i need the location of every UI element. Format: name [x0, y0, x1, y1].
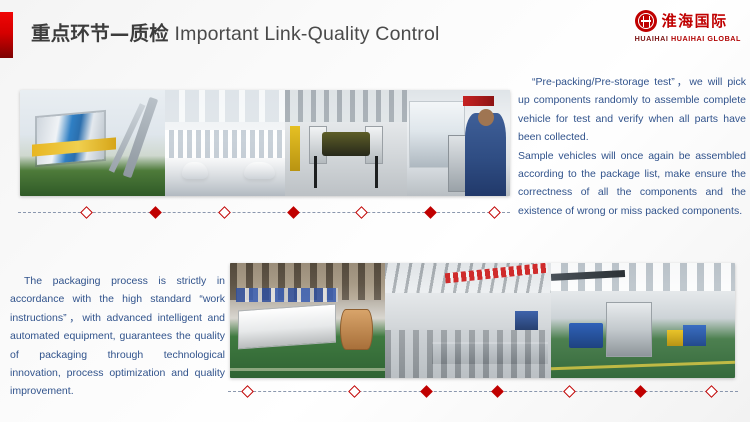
page-title-cn: 重点环节—质检: [31, 22, 169, 45]
factory-hall-photo: [385, 263, 551, 378]
station-panel-shape: [448, 135, 475, 192]
divider-diamond-hollow-2: [349, 385, 362, 398]
huaihai-emblem-icon: [635, 10, 657, 32]
divider-diamond-hollow-4: [706, 385, 719, 398]
page-title-en: Important Link-Quality Control: [175, 23, 440, 45]
right-text-block: “Pre-packing/Pre-storage test”，we will p…: [518, 73, 746, 220]
vehicle-showroom-photo: [165, 90, 285, 196]
brand-logo: 淮海国际 HUAIHAI HUAIHAI GLOBAL: [635, 10, 741, 42]
divider-diamond-filled-2: [491, 385, 504, 398]
gantry-crane-shape: [551, 270, 625, 281]
floor-stripe-shape: [551, 360, 735, 369]
floor-line-shape: [230, 368, 385, 371]
divider-line: [228, 391, 738, 392]
workshop-blue-machinery-photo: [551, 263, 735, 378]
divider-diamond-hollow-3: [356, 206, 369, 219]
left-paragraph-1: The packaging process is strictly in acc…: [10, 272, 225, 401]
divider-diamond-filled-2: [287, 206, 300, 219]
logo-name-en: HUAIHAI HUAIHAI GLOBAL: [635, 35, 741, 42]
rig-leg-shape: [314, 156, 317, 188]
vehicle-test-rig-photo: [285, 90, 407, 196]
divider-diamond-hollow-1: [80, 206, 93, 219]
blue-bins-shape: [236, 288, 338, 302]
page-title: 重点环节—质检 Important Link-Quality Control: [31, 17, 440, 46]
divider-diamond-hollow-3: [563, 385, 576, 398]
logo-name-cn: 淮海国际: [662, 14, 728, 29]
divider-diamond-filled-1: [420, 385, 433, 398]
overhead-red-rack-shape: [445, 263, 548, 283]
divider-diamond-filled-1: [149, 206, 162, 219]
logo-row: 淮海国际: [635, 10, 728, 32]
paper-roll-shape: [340, 309, 373, 350]
title-accent-bar: [0, 12, 13, 58]
rig-yellow-guard-shape: [290, 126, 300, 171]
top-image-strip: [20, 90, 510, 196]
logo-name-en-secondary: HUAIHAI GLOBAL: [671, 34, 741, 43]
rig-leg-shape-2: [375, 156, 378, 188]
divider-diamond-filled-3: [634, 385, 647, 398]
divider-diamond-hollow-1: [241, 385, 254, 398]
bottom-dashed-divider: [228, 384, 738, 400]
emblem-bar-icon: [641, 20, 651, 22]
conveyor-shape: [432, 342, 548, 365]
right-paragraph-2: Sample vehicles will once again be assem…: [518, 147, 746, 221]
blue-machine-unit-shape: [569, 323, 602, 348]
blue-machine-unit-shape-2: [683, 325, 705, 346]
showroom-car-shape: [182, 162, 208, 179]
left-text-block: The packaging process is strictly in acc…: [10, 272, 225, 401]
divider-diamond-hollow-4: [488, 206, 501, 219]
worker-inspection-station-photo: [407, 90, 510, 196]
machine-fixture-photo: [20, 90, 165, 196]
bottom-image-strip: [230, 263, 735, 378]
packaging-line-photo: [230, 263, 385, 378]
showroom-ceiling-shape: [165, 90, 285, 122]
showroom-car-shape-2: [244, 162, 275, 179]
top-dashed-divider: [18, 205, 510, 221]
rig-cabinet-shape: [309, 126, 327, 164]
divider-diamond-hollow-2: [218, 206, 231, 219]
right-paragraph-1: “Pre-packing/Pre-storage test”，we will p…: [518, 73, 746, 147]
rig-cabinet-shape-2: [365, 126, 383, 164]
divider-diamond-filled-3: [424, 206, 437, 219]
station-red-banner-shape: [463, 96, 494, 106]
worker-head-shape: [478, 109, 494, 126]
yellow-machine-unit-shape: [667, 330, 684, 346]
blue-machine-shape: [515, 311, 538, 329]
logo-name-en-primary: HUAIHAI: [635, 34, 669, 43]
slide-canvas: 重点环节—质检 Important Link-Quality Control 淮…: [0, 0, 750, 422]
